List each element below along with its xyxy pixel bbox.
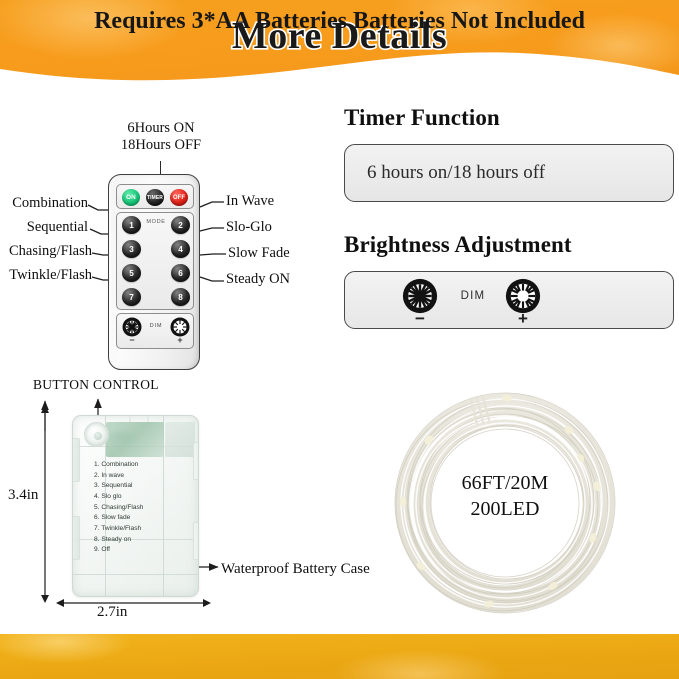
timer-value-text: 6 hours on/18 hours off [367, 162, 545, 184]
battery-case-inner-compartment [165, 422, 195, 457]
led-wire-coil-section: 66FT/20M 200LED [355, 378, 655, 628]
battery-case-section: BUTTON CONTROL [0, 375, 344, 630]
remote-button-8[interactable]: 8 [171, 288, 190, 306]
callout-combination: Combination [2, 195, 88, 212]
mode-list-item-6: 6. Slow fade [94, 513, 143, 524]
case-seam-bottom [73, 574, 199, 575]
case-width-dimension-label: 2.7in [97, 604, 127, 621]
brightness-dim-label: DIM [445, 290, 501, 302]
brightness-minus-sign[interactable]: − [402, 310, 438, 327]
remote-button-4[interactable]: 4 [171, 240, 190, 258]
mode-list-item-7: 7. Twinkle/Flash [94, 524, 143, 535]
dim-down-gear-icon[interactable] [122, 317, 142, 337]
footer-text: Requires 3*AA Batteries Batteries Not In… [0, 8, 679, 35]
battery-case-mode-list: 1. Combination 2. In wave 3. Sequential … [94, 460, 143, 556]
remote-button-6[interactable]: 6 [171, 264, 190, 282]
battery-case-circuit-board [106, 422, 164, 457]
footer-banner [0, 634, 679, 679]
right-info-column: Timer Function 6 hours on/18 hours off B… [344, 105, 674, 329]
remote-button-1[interactable]: 1 [122, 216, 141, 234]
timer-note: 6Hours ON 18Hours OFF [96, 120, 226, 154]
remote-button-7[interactable]: 7 [122, 288, 141, 306]
case-clip-lower-left [72, 516, 80, 560]
mode-list-item-9: 9. Off [94, 545, 143, 556]
battery-case-body: 1. Combination 2. In wave 3. Sequential … [72, 415, 199, 597]
callout-steady-on: Steady ON [226, 271, 290, 288]
battery-case-hanging-loop [129, 415, 149, 422]
timer-note-line2: 18Hours OFF [96, 137, 226, 154]
remote-on-button[interactable]: ON [122, 189, 140, 206]
case-clip-lower-right [193, 522, 199, 560]
dim-minus-sign[interactable]: − [122, 336, 142, 345]
case-height-dimension-label: 3.4in [8, 487, 38, 504]
callout-slo-glo: Slo-Glo [226, 219, 272, 236]
button-control-label: BUTTON CONTROL [33, 377, 159, 393]
remote-dim-panel: DIM [116, 313, 194, 349]
timer-function-heading: Timer Function [344, 105, 674, 131]
battery-case-control-button[interactable] [84, 422, 109, 447]
coil-specs: 66FT/20M 200LED [355, 470, 655, 523]
remote-control-section: 6Hours ON 18Hours OFF Combination Sequen… [0, 95, 336, 375]
callout-chasing-flash: Chasing/Flash [0, 243, 92, 260]
brightness-plus-sign[interactable]: + [505, 310, 541, 327]
brightness-adjustment-heading: Brightness Adjustment [344, 232, 674, 258]
remote-button-5[interactable]: 5 [122, 264, 141, 282]
mode-list-item-1: 1. Combination [94, 460, 143, 471]
mode-list-item-2: 2. In wave [94, 471, 143, 482]
footer-background [0, 634, 679, 679]
remote-off-button[interactable]: OFF [170, 189, 188, 206]
remote-button-2[interactable]: 2 [171, 216, 190, 234]
callout-in-wave: In Wave [226, 193, 274, 210]
remote-control-body: ON TIMER OFF MODE 1 2 3 4 5 6 7 8 DIM [108, 174, 200, 370]
remote-timer-button[interactable]: TIMER [146, 189, 164, 206]
dim-plus-sign[interactable]: + [170, 336, 190, 345]
dim-up-gear-icon[interactable] [170, 317, 190, 337]
remote-mode-panel: MODE 1 2 3 4 5 6 7 8 [116, 212, 194, 310]
remote-button-3[interactable]: 3 [122, 240, 141, 258]
timer-note-line1: 6Hours ON [96, 120, 226, 137]
coil-led-count-label: 200LED [355, 496, 655, 522]
brightness-control-box: DIM − + [344, 271, 674, 329]
case-clip-upper-left [72, 438, 80, 482]
waterproof-battery-case-label: Waterproof Battery Case [221, 561, 370, 578]
control-button-center [94, 432, 102, 440]
mode-list-item-4: 4. Slo glo [94, 492, 143, 503]
callout-sequential: Sequential [2, 219, 88, 236]
mode-list-item-8: 8. Steady on [94, 535, 143, 546]
callout-slow-fade: Slow Fade [228, 245, 290, 262]
callout-twinkle-flash: Twinkle/Flash [0, 267, 92, 284]
timer-note-leader-line [160, 161, 161, 174]
coil-length-label: 66FT/20M [355, 470, 655, 496]
mode-list-item-3: 3. Sequential [94, 481, 143, 492]
remote-top-panel: ON TIMER OFF [116, 184, 194, 209]
mode-list-item-5: 5. Chasing/Flash [94, 503, 143, 514]
case-clip-upper-right [193, 442, 199, 480]
timer-value-box: 6 hours on/18 hours off [344, 144, 674, 202]
